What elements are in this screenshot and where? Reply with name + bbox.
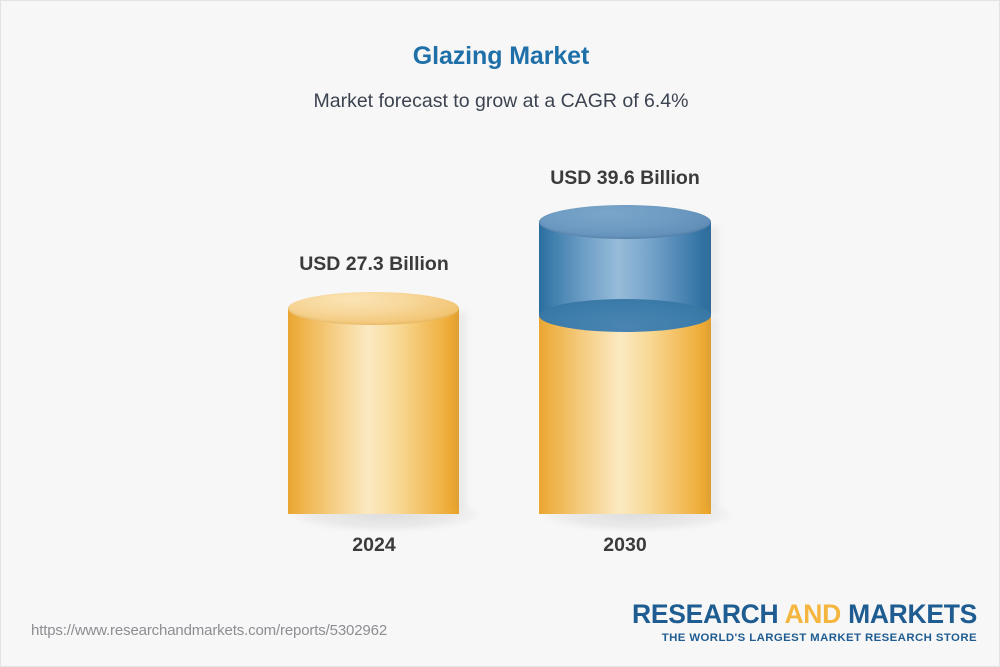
bar-body-2024 (288, 308, 459, 514)
bar-value-label-2024: USD 27.3 Billion (224, 253, 524, 276)
bar-bottom-cap-2030-growth (539, 299, 711, 332)
brand-word-and: AND (784, 599, 841, 629)
bar-cylinder-2030-growth[interactable] (539, 205, 711, 332)
brand-word-research: RESEARCH (632, 599, 778, 629)
bar-top-cap-2030 (539, 205, 711, 239)
bar-cylinder-2024[interactable] (288, 292, 459, 514)
bar-body-2030-base (539, 314, 711, 514)
bar-top-cap-2024 (288, 292, 459, 325)
bar-value-label-2030: USD 39.6 Billion (475, 167, 775, 190)
brand-word-markets: MARKETS (848, 599, 977, 629)
category-label-2030: 2030 (475, 534, 775, 557)
plot-area: USD 27.3 Billion 2024 USD 39.6 Billion (1, 1, 1000, 601)
bar-cylinder-2030-base[interactable] (539, 314, 711, 514)
brand-logo[interactable]: RESEARCH AND MARKETS THE WORLD'S LARGEST… (632, 601, 977, 644)
chart-canvas: Glazing Market Market forecast to grow a… (0, 0, 1000, 667)
brand-logo-wordmark: RESEARCH AND MARKETS (632, 601, 977, 629)
brand-tagline: THE WORLD'S LARGEST MARKET RESEARCH STOR… (632, 632, 977, 644)
source-url[interactable]: https://www.researchandmarkets.com/repor… (31, 622, 387, 639)
